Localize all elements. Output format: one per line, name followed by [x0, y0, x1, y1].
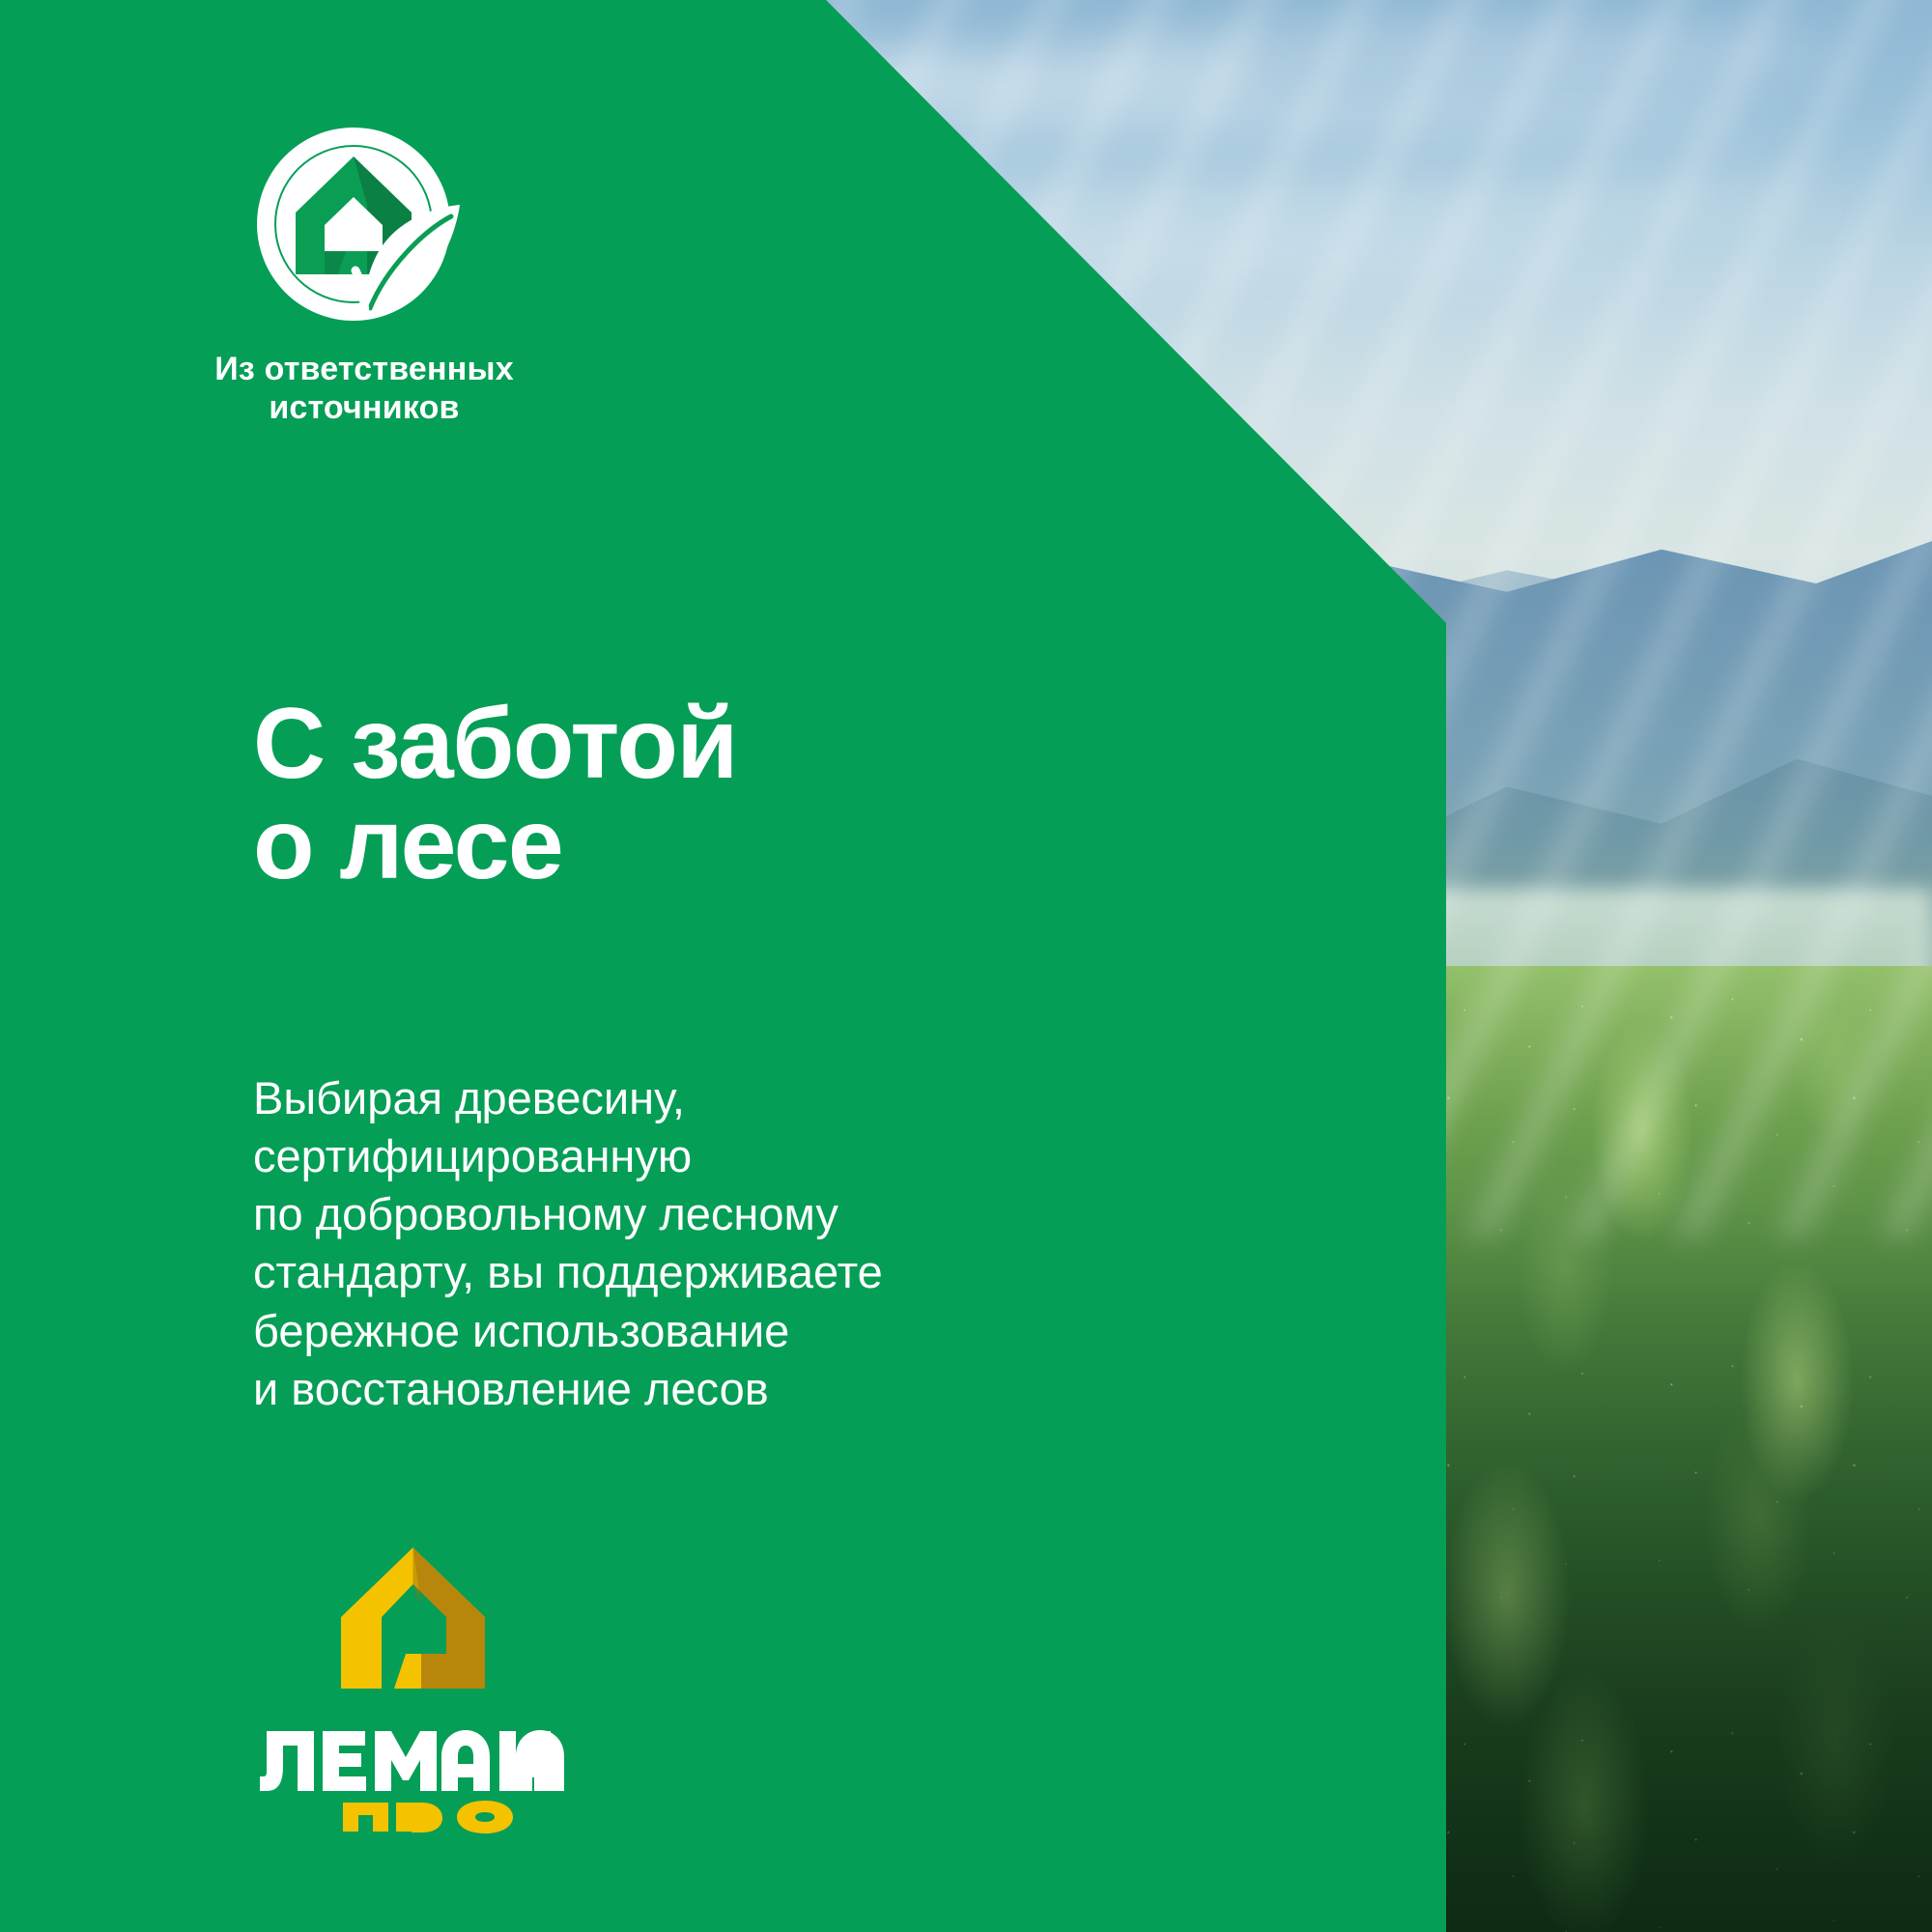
poster-canvas: Из ответственных источников С заботой о …: [0, 0, 1932, 1932]
lemana-pro-wordmark: [253, 1718, 572, 1835]
body-paragraph: Выбирая древесину, сертифицированную по …: [253, 1069, 883, 1418]
page-title: С заботой о лесе: [253, 694, 737, 895]
lemana-house-icon: [338, 1546, 488, 1690]
lemana-pro-logo: [253, 1546, 572, 1835]
responsible-sources-badge: Из ответственных источников: [253, 124, 475, 427]
responsible-sources-badge-icon: [253, 124, 475, 325]
responsible-sources-caption: Из ответственных источников: [205, 350, 524, 427]
poster-content: Из ответственных источников С заботой о …: [0, 0, 1932, 1932]
